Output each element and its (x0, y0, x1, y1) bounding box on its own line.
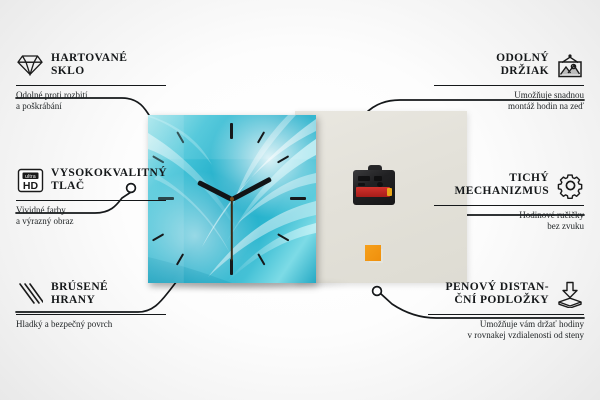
feature-title: PENOVÝ DISTAN- ČNÍ PODLOŽKY (446, 281, 549, 308)
feature-description: Hodinové ručičky bez zvuku (434, 210, 584, 233)
feature-description: Vividné farby a výrazný obraz (16, 205, 166, 228)
feature-rule (434, 205, 584, 206)
press-layers-icon (556, 280, 584, 308)
wall-clock (148, 115, 316, 283)
feature-durable-holder: ODOLNÝ DRŽIAK Umožňuje snadnou montáž ho… (434, 48, 584, 113)
feature-title: TICHÝ MECHANIZMUS (455, 172, 550, 199)
second-hand (231, 199, 233, 261)
mechanism-battery (356, 187, 390, 197)
feature-rule (16, 85, 166, 86)
feature-rule (16, 314, 166, 315)
feature-rule (434, 85, 584, 86)
feature-description: Umožňuje snadnou montáž hodin na zeď (434, 90, 584, 113)
product-infographic: HARTOVANÉ SKLO Odolné proti rozbití a po… (0, 0, 600, 400)
feature-description: Hladký a bezpečný povrch (16, 319, 166, 331)
clock-mechanism (353, 165, 395, 205)
clock-center-pin (230, 197, 234, 201)
svg-text:HD: HD (22, 180, 38, 192)
feature-rule (428, 314, 584, 315)
feature-foam-spacers: PENOVÝ DISTAN- ČNÍ PODLOŽKY Umožňuje vám… (428, 277, 584, 342)
foam-spacer-pad (365, 245, 381, 261)
feature-title: BRÚSENÉ HRANY (51, 281, 108, 308)
feature-tempered-glass: HARTOVANÉ SKLO Odolné proti rozbití a po… (16, 48, 166, 113)
feature-title: VYSOKOKVALITNÝ TLAČ (51, 167, 167, 194)
feature-rule (16, 200, 166, 201)
product-photo (140, 105, 470, 290)
diamond-icon (16, 51, 44, 79)
ultra-hd-icon: ultra HD (16, 166, 44, 194)
feature-title: ODOLNÝ DRŽIAK (496, 52, 549, 79)
svg-text:ultra: ultra (25, 173, 36, 179)
gear-icon (556, 171, 584, 199)
feature-high-quality-print: ultra HD VYSOKOKVALITNÝ TLAČ Vividné far… (16, 163, 166, 228)
feature-description: Umožňuje vám držať hodiny v rovnakej vzd… (428, 319, 584, 342)
battery-terminal (387, 188, 392, 196)
framed-picture-icon (556, 51, 584, 79)
feature-title: HARTOVANÉ SKLO (51, 52, 127, 79)
feature-silent-mechanism: TICHÝ MECHANIZMUS Hodinové ručičky bez z… (434, 168, 584, 233)
surface-shadow (148, 281, 468, 297)
feature-description: Odolné proti rozbití a poškrábání (16, 90, 166, 113)
diagonal-lines-icon (16, 280, 44, 308)
feature-polished-edges: BRÚSENÉ HRANY Hladký a bezpečný povrch (16, 277, 166, 330)
